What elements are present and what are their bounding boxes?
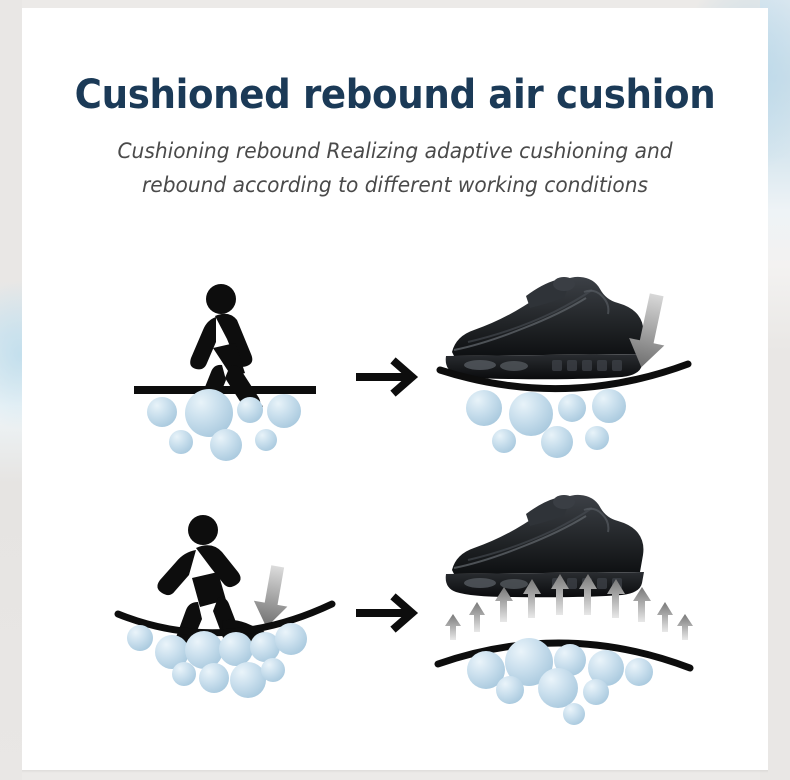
black-sneaker-image — [446, 495, 644, 597]
transition-arrow-running — [358, 596, 422, 630]
page-subtitle: Cushioning rebound Realizing adaptive cu… — [78, 134, 712, 202]
compressed-air-bubbles — [466, 389, 626, 458]
transition-arrow-icon — [360, 363, 412, 391]
content-card: Cushioned rebound air cushion Cushioning… — [22, 8, 768, 770]
page-title: Cushioned rebound air cushion — [48, 70, 742, 120]
panel-shoe-compressing-cushion — [434, 256, 694, 492]
relaxed-air-bubbles — [147, 389, 301, 461]
header: Cushioned rebound air cushion Cushioning… — [22, 70, 768, 202]
black-sneaker-image — [446, 277, 644, 379]
panel-shoe-rebounding-cushion — [434, 492, 694, 728]
frame-edge-left — [0, 0, 22, 780]
transition-arrow-walking — [358, 360, 422, 394]
flat-line — [134, 386, 316, 394]
illustration-rows — [22, 256, 768, 728]
transition-arrow-icon — [360, 599, 412, 627]
panel-running-on-sagging-cushion — [118, 492, 348, 728]
row-running — [22, 492, 768, 728]
card-bottom-shadow — [22, 770, 768, 773]
panel-walking-on-flat-cushion — [118, 256, 348, 492]
row-walking — [22, 256, 768, 492]
page-background: Cushioned rebound air cushion Cushioning… — [0, 0, 790, 780]
